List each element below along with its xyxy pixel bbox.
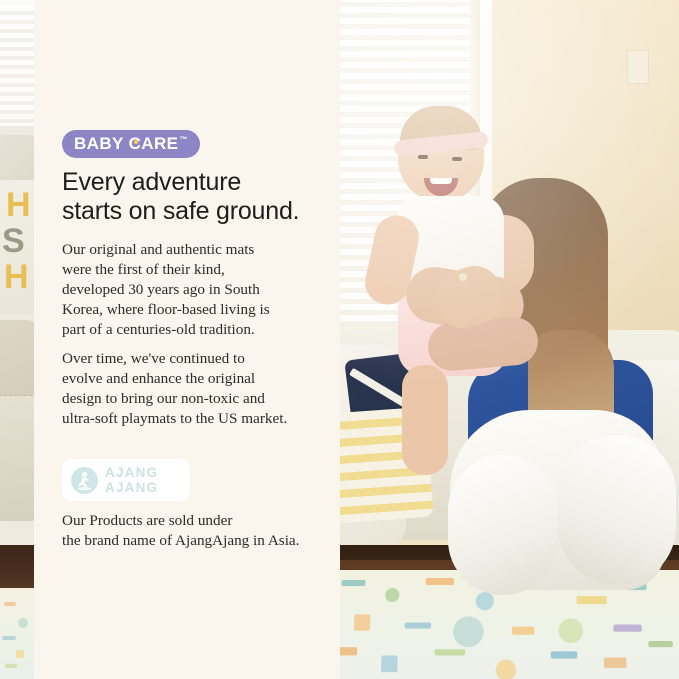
paragraph-line: part of a centuries-old tradition. bbox=[62, 320, 322, 340]
ajangajang-logo: AJANG AJANG bbox=[62, 459, 190, 501]
sliver-playmat bbox=[0, 588, 34, 679]
badge-word-are: ARE bbox=[141, 134, 178, 153]
headline-line-2: starts on safe ground. bbox=[62, 197, 330, 226]
paragraph-line: the brand name of AjangAjang in Asia. bbox=[62, 531, 322, 551]
paragraph-evolution: Over time, we've continued to evolve and… bbox=[62, 349, 322, 429]
photo-wedding-ring bbox=[458, 272, 468, 282]
badge-baby-dot-icon bbox=[134, 140, 138, 144]
sliver-pillow-letter-3: H bbox=[4, 258, 29, 297]
page-title: Every adventure starts on safe ground. bbox=[62, 168, 330, 226]
photo-mother-knee-left bbox=[448, 455, 558, 595]
sliver-sofa-cushion-lower bbox=[0, 395, 34, 521]
sliver-pillow-letter-2: S bbox=[2, 222, 25, 261]
photo-mother-knee-right bbox=[558, 435, 676, 585]
photo-baby-eye-right bbox=[452, 157, 462, 161]
ajangajang-child-icon bbox=[71, 467, 98, 494]
trademark-symbol: ™ bbox=[179, 135, 187, 144]
sliver-pillow-letter-1: H bbox=[6, 186, 31, 225]
paragraph-line: Over time, we've continued to bbox=[62, 349, 322, 369]
paragraph-line: Korea, where floor-based living is bbox=[62, 300, 322, 320]
left-photo-sliver: H S H bbox=[0, 0, 34, 679]
baby-care-logo-badge: BABY CARE™ bbox=[62, 130, 200, 158]
photo-baby-eye-left bbox=[418, 155, 428, 159]
paragraph-line: ultra-soft playmats to the US market. bbox=[62, 409, 322, 429]
photo-wall-outlet bbox=[627, 50, 649, 84]
sliver-window-blinds bbox=[0, 6, 34, 126]
photo-baby-teeth bbox=[430, 178, 452, 184]
ajangajang-word-1: AJANG bbox=[105, 466, 158, 480]
lifestyle-photo bbox=[340, 0, 679, 679]
paragraph-asia-brand: Our Products are sold under the brand na… bbox=[62, 511, 322, 551]
paragraph-origin-story: Our original and authentic mats were the… bbox=[62, 240, 322, 340]
content-panel: BABY CARE™ Every adventure starts on saf… bbox=[34, 0, 340, 679]
sliver-wood-floor bbox=[0, 545, 34, 593]
photo-baby-leg bbox=[402, 365, 448, 475]
baby-care-logo-text: BABY CARE™ bbox=[74, 135, 188, 152]
paragraph-line: Our original and authentic mats bbox=[62, 240, 322, 260]
ajangajang-word-2: AJANG bbox=[105, 481, 158, 495]
badge-letter-c: C bbox=[129, 135, 142, 152]
paragraph-line: were the first of their kind, bbox=[62, 260, 322, 280]
paragraph-line: design to bring our non-toxic and bbox=[62, 389, 322, 409]
badge-word-baby: BABY bbox=[74, 134, 129, 153]
ajangajang-wordmark: AJANG AJANG bbox=[105, 466, 158, 495]
headline-line-1: Every adventure bbox=[62, 168, 330, 197]
product-image-canvas: H S H BABY CARE™ Every adventure starts … bbox=[0, 0, 679, 679]
paragraph-line: Our Products are sold under bbox=[62, 511, 322, 531]
paragraph-line: developed 30 years ago in South bbox=[62, 280, 322, 300]
paragraph-line: evolve and enhance the original bbox=[62, 369, 322, 389]
